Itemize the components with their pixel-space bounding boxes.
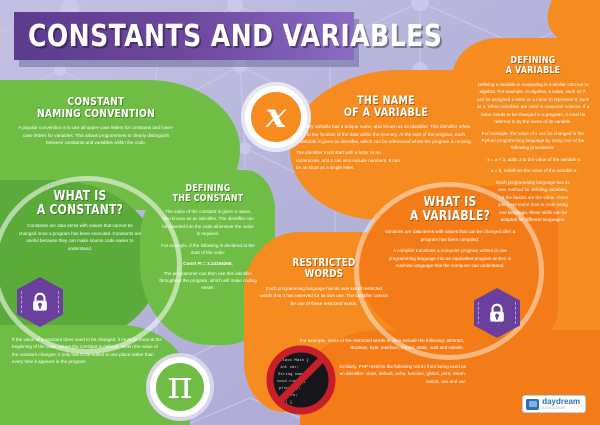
what-is-constant-heading: What is a Constant?: [8, 190, 152, 217]
restricted-words-body2: For example, some of the restricted word…: [288, 337, 464, 352]
poster-title-bar: Constants and Variables: [14, 12, 354, 60]
svg-text:int var;: int var;: [280, 365, 299, 370]
constant-naming-heading-line2: Naming Convention: [37, 107, 155, 120]
defining-variable-body1: Defining a variable in computing is a si…: [476, 81, 590, 126]
constant-naming-body: A popular convention is to use all upper…: [18, 124, 174, 146]
what-is-variable-body2: A compiler translates a computer program…: [384, 247, 516, 269]
daydream-logo-mark-icon: [526, 399, 539, 410]
defining-variable-body3: Each programming language has its own me…: [496, 179, 570, 224]
restricted-words-heading: Restricted Words: [261, 258, 386, 280]
lock-icon: [31, 292, 49, 312]
svg-text:class Main {: class Main {: [280, 358, 309, 363]
what-is-constant-heading-line2: a Constant?: [37, 203, 123, 218]
name-of-variable-body2: The identifier must start with a letter …: [296, 149, 400, 171]
defining-variable-body2: For example, the value of x can be chang…: [476, 130, 590, 152]
defining-variable-heading-line2: a Variable: [506, 65, 561, 76]
daydream-education-logo[interactable]: daydream EDUCATION: [522, 395, 586, 413]
name-of-variable-body1: Every variable has a unique name, also k…: [300, 123, 472, 145]
section-restricted-words: Restricted Words Each programming langua…: [256, 258, 392, 311]
defining-variable-bullet1: · x = x + 3, adds 3 to the value of the …: [484, 156, 582, 163]
defining-constant-body3: The programmer can then use this identif…: [152, 270, 264, 292]
section-constant-naming-convention: Constant Naming Convention A popular con…: [8, 96, 184, 150]
restricted-words-body3: Similarly, PHP restricts the following w…: [338, 363, 466, 385]
defining-variable-bullet2: · x = 8, redefines the value of the vari…: [484, 167, 582, 174]
logo-wordmark: daydream: [542, 398, 580, 406]
section-name-of-a-variable: The Name of a Variable Every variable ha…: [296, 94, 476, 176]
section-defining-the-constant: Defining the Constant The value of the c…: [146, 184, 270, 296]
poster-canvas: Constants and Variables x π class Main {…: [0, 0, 600, 425]
constant-naming-heading: Constant Naming Convention: [15, 96, 177, 119]
x-symbol: x: [266, 99, 286, 133]
defining-constant-heading-line2: the Constant: [173, 193, 244, 204]
logo-subtext: EDUCATION: [542, 406, 565, 410]
defining-variable-heading: Defining a Variable: [475, 56, 591, 76]
lock-icon: [488, 303, 506, 323]
page-title: Constants and Variables: [28, 19, 442, 54]
defining-constant-body1: The value of the constant is given a nam…: [160, 208, 256, 238]
defining-constant-code: Const PI = 3.14159265;: [146, 261, 270, 266]
what-is-variable-body1: Variables are data items with values tha…: [384, 228, 516, 243]
section-what-is-a-constant: What is a Constant? Constants are data i…: [2, 190, 158, 256]
restricted-words-body1: Each programming language has its own se…: [260, 285, 388, 307]
section-defining-a-variable: Defining a Variable Defining a variable …: [470, 56, 596, 227]
what-is-constant-footer-note-wrap: If the value of a constant does need to …: [12, 336, 164, 370]
name-of-variable-heading-line2: of a Variable: [344, 105, 428, 119]
restricted-words-heading-line2: Words: [305, 268, 344, 280]
restricted-words-body3-wrap: Similarly, PHP restricts the following w…: [338, 363, 466, 389]
defining-constant-heading: Defining the Constant: [151, 184, 265, 204]
restricted-words-body2-wrap: For example, some of the restricted word…: [288, 337, 464, 356]
what-is-constant-body: Constants are data items with values tha…: [18, 222, 142, 252]
pi-symbol: π: [168, 366, 193, 404]
defining-constant-body2: For example, if the following is declare…: [160, 242, 256, 257]
name-of-variable-heading: The Name of a Variable: [303, 94, 469, 118]
what-is-constant-footer-note: If the value of a constant does need to …: [12, 336, 164, 366]
